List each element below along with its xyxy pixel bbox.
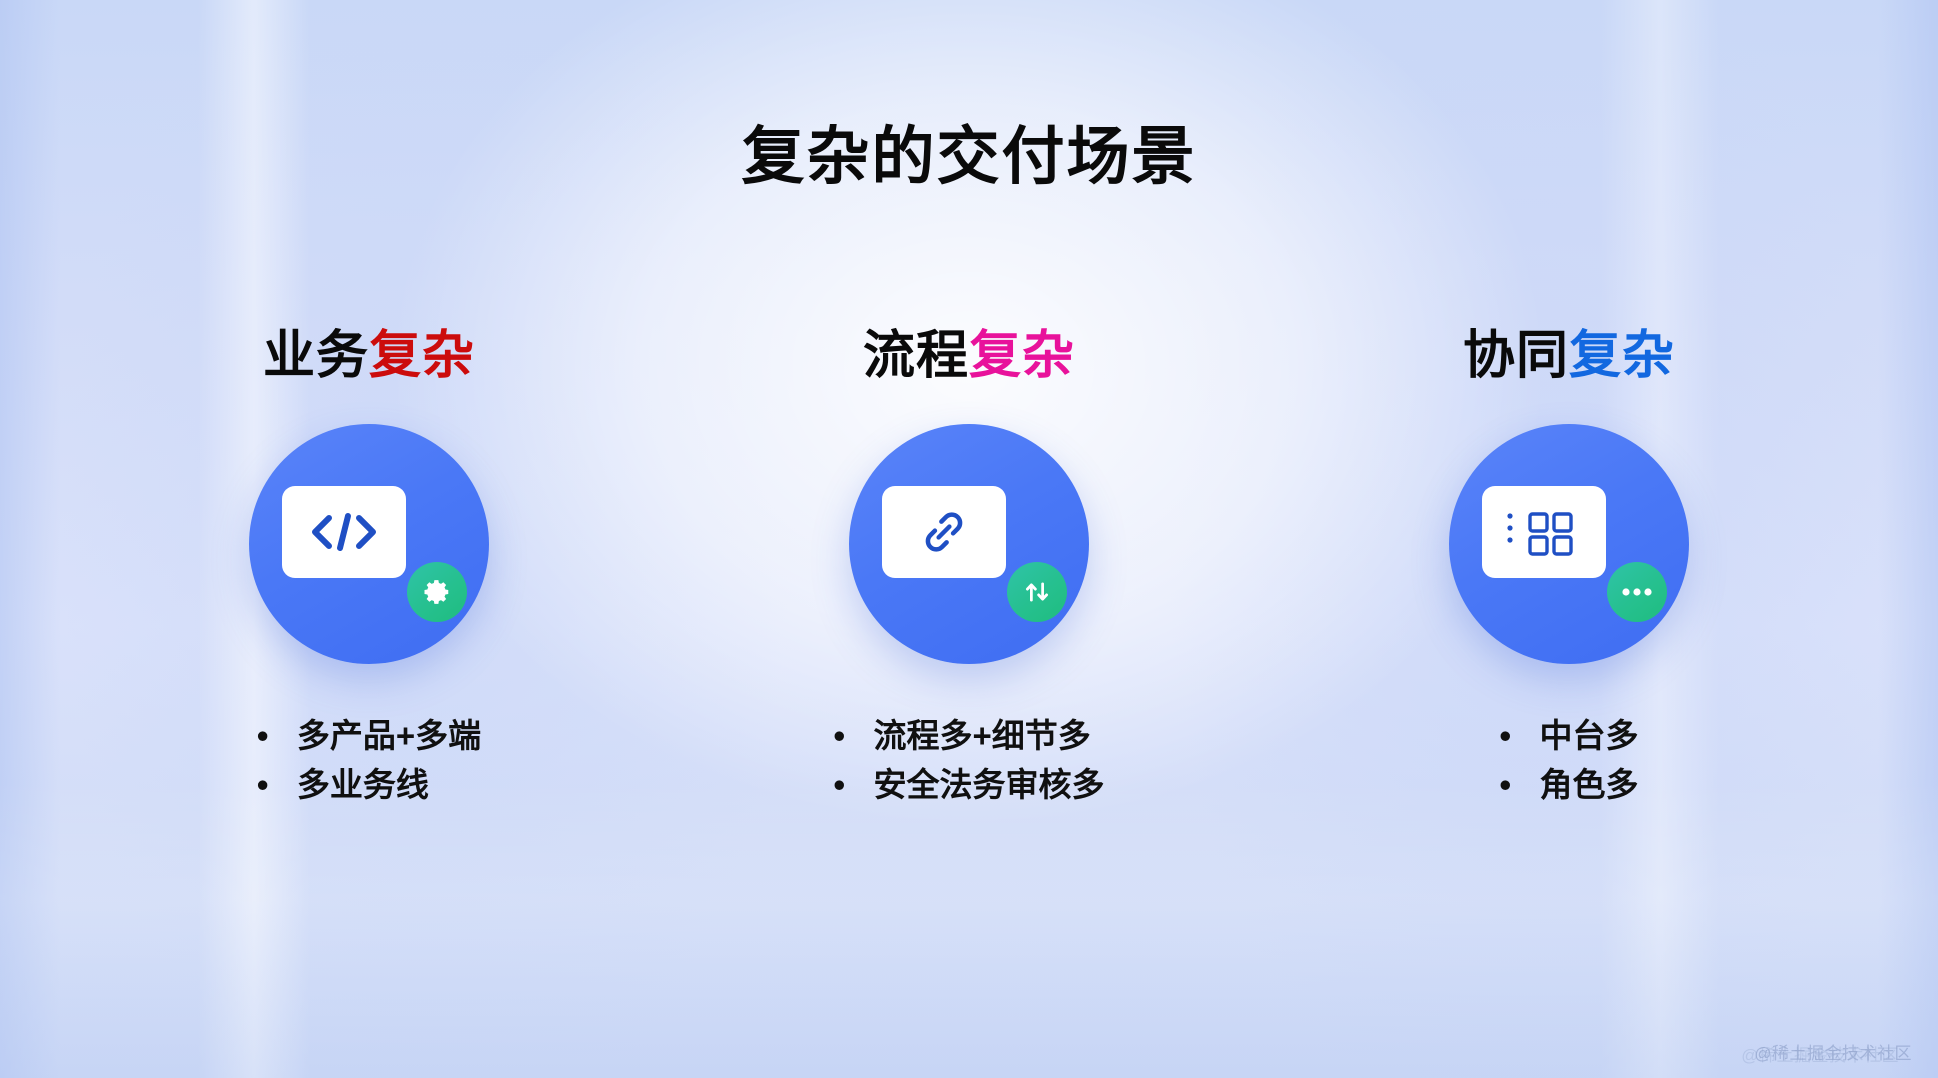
bullet-text: 角色多 — [1540, 761, 1639, 810]
gear-icon — [422, 577, 452, 607]
slide-root: 复杂的交付场景 业务复杂 — [0, 0, 1938, 1078]
heading-plain-text: 流程 — [863, 327, 969, 385]
heading-accent-text: 复杂 — [969, 327, 1075, 385]
bullet-text: 安全法务审核多 — [874, 761, 1105, 810]
badge-gear — [407, 562, 467, 622]
icon-dashboard-window — [1449, 424, 1689, 664]
slide-title: 复杂的交付场景 — [0, 120, 1938, 194]
bullet-text: 多产品+多端 — [297, 712, 481, 761]
bullet-list-collaboration: •中台多 •角色多 — [1500, 712, 1639, 810]
heading-plain-text: 协同 — [1463, 327, 1569, 385]
link-chain-icon — [918, 506, 970, 558]
bullet-text: 中台多 — [1540, 712, 1639, 761]
bullet-marker: • — [257, 712, 297, 761]
badge-ellipsis — [1607, 562, 1667, 622]
column-business: 业务复杂 •多产 — [69, 330, 669, 810]
bullet-marker: • — [834, 761, 874, 810]
heading-accent-text: 复杂 — [1569, 327, 1675, 385]
icon-card-surface — [882, 486, 1006, 578]
list-item: •安全法务审核多 — [834, 761, 1105, 810]
list-item: •多业务线 — [257, 761, 481, 810]
background-floor-gradient — [0, 778, 1938, 1078]
column-process: 流程复杂 — [669, 330, 1269, 810]
icon-card-surface — [282, 486, 406, 578]
bullet-marker: • — [1500, 712, 1540, 761]
watermark-ghost-layer: @稀土掘金技术社区 — [1741, 1041, 1899, 1066]
column-heading-collaboration: 协同复杂 — [1463, 330, 1675, 382]
icon-code-window — [249, 424, 489, 664]
list-item: •角色多 — [1500, 761, 1639, 810]
bullet-text: 流程多+细节多 — [874, 712, 1091, 761]
heading-accent-text: 复杂 — [369, 327, 475, 385]
bullet-text: 多业务线 — [297, 761, 429, 810]
column-collaboration: 协同复杂 — [1269, 330, 1869, 810]
bullet-list-process: •流程多+细节多 •安全法务审核多 — [834, 712, 1105, 810]
bullet-marker: • — [257, 761, 297, 810]
bullet-marker: • — [834, 712, 874, 761]
swap-arrows-icon — [1022, 577, 1052, 607]
list-item: •多产品+多端 — [257, 712, 481, 761]
list-item: •中台多 — [1500, 712, 1639, 761]
watermark: @稀土掘金技术社区@稀土掘金技术社区 — [1754, 1039, 1912, 1064]
icon-link-window — [849, 424, 1089, 664]
columns-container: 业务复杂 •多产 — [0, 330, 1938, 810]
ellipsis-icon — [1621, 586, 1653, 598]
bullet-list-business: •多产品+多端 •多业务线 — [257, 712, 481, 810]
dashboard-grid-icon — [1500, 503, 1588, 561]
list-item: •流程多+细节多 — [834, 712, 1105, 761]
column-heading-business: 业务复杂 — [263, 330, 475, 382]
icon-card-surface — [1482, 486, 1606, 578]
bullet-marker: • — [1500, 761, 1540, 810]
badge-swap — [1007, 562, 1067, 622]
heading-plain-text: 业务 — [263, 327, 369, 385]
column-heading-process: 流程复杂 — [863, 330, 1075, 382]
code-brackets-icon — [307, 512, 381, 552]
